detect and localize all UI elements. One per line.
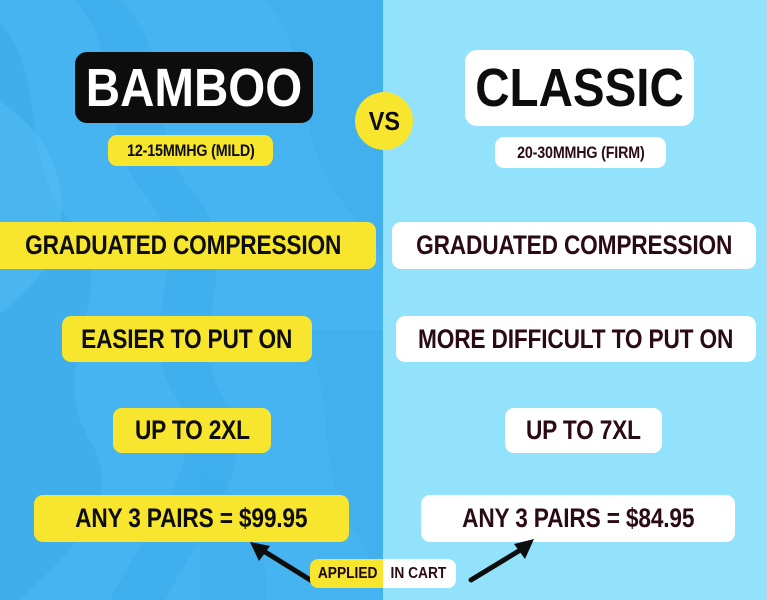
left-feature-row-0: GRADUATED COMPRESSION [0,222,376,269]
left-feature-row-2: UP TO 2XL [113,408,271,453]
in-cart-label: IN CART [391,565,447,583]
right-price-row: ANY 3 PAIRS = $84.95 [421,495,735,542]
comparison-infographic: BAMBOO 12-15MMHG (MILD) CLASSIC 20-30MMH… [0,0,767,600]
left-price-text: ANY 3 PAIRS = $99.95 [75,503,307,534]
left-price-row: ANY 3 PAIRS = $99.95 [34,495,349,542]
right-feature-text-0: GRADUATED COMPRESSION [416,230,732,261]
right-compression-level-text: 20-30MMHG (FIRM) [517,143,644,163]
left-product-title: BAMBOO [86,61,302,115]
right-feature-row-2: UP TO 7XL [505,408,662,453]
applied-in-cart-white-half: IN CART [383,559,456,588]
left-feature-text-2: UP TO 2XL [135,415,250,446]
left-feature-row-1: EASIER TO PUT ON [62,316,312,362]
left-product-title-box: BAMBOO [75,52,313,123]
left-feature-text-0: GRADUATED COMPRESSION [25,230,341,261]
left-compression-level-badge: 12-15MMHG (MILD) [108,135,273,166]
right-feature-row-1: MORE DIFFICULT TO PUT ON [396,316,756,362]
right-compression-level-badge: 20-30MMHG (FIRM) [495,137,666,168]
applied-in-cart-yellow-half: APPLIED [310,559,383,588]
arrow-up-left-icon [248,541,318,590]
right-feature-text-1: MORE DIFFICULT TO PUT ON [418,324,733,355]
right-product-title-box: CLASSIC [465,50,694,126]
applied-label: APPLIED [318,565,378,583]
arrow-up-right-icon [466,538,536,589]
right-feature-row-0: GRADUATED COMPRESSION [392,222,756,269]
left-compression-level-text: 12-15MMHG (MILD) [127,141,254,161]
versus-label: VS [368,106,399,137]
versus-badge: VS [355,92,413,150]
right-product-title: CLASSIC [475,61,684,115]
applied-in-cart-badge: APPLIED IN CART [310,559,456,588]
right-feature-text-2: UP TO 7XL [526,415,641,446]
right-price-text: ANY 3 PAIRS = $84.95 [462,503,694,534]
left-feature-text-1: EASIER TO PUT ON [81,324,292,355]
